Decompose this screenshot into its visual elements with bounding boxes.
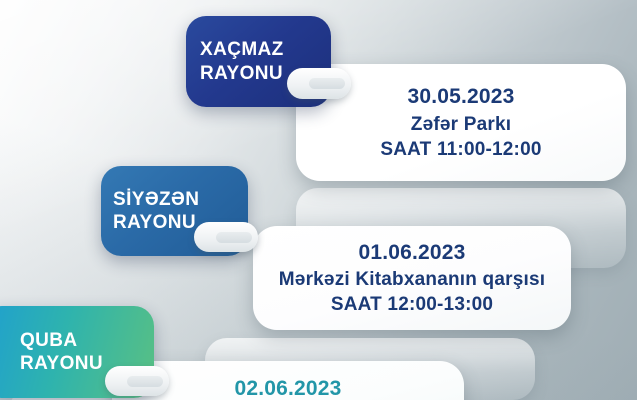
event-card-2: 01.06.2023 Mərkəzi Kitabxananın qarşısı … [253, 226, 571, 330]
event-time-2: SAAT 12:00-13:00 [331, 292, 493, 317]
event-place-2: Mərkəzi Kitabxananın qarşısı [279, 267, 545, 292]
region-badge-siyezen: SİYƏZƏN RAYONU [101, 166, 248, 256]
event-card-1: 30.05.2023 Zəfər Parkı SAAT 11:00-12:00 [296, 64, 626, 181]
region-badge-xacmaz: XAÇMAZ RAYONU [186, 16, 331, 107]
region-badge-quba: QUBA RAYONU [0, 306, 154, 398]
event-place-1: Zəfər Parkı [411, 112, 511, 137]
event-date-2: 01.06.2023 [358, 239, 465, 267]
region-badge-quba-line1: QUBA [20, 329, 154, 352]
region-badge-xacmaz-line1: XAÇMAZ [200, 38, 331, 61]
event-time-1: SAAT 11:00-12:00 [380, 137, 541, 162]
region-badge-quba-line2: RAYONU [20, 352, 154, 375]
event-card-3: 02.06.2023 [112, 361, 464, 400]
event-date-3: 02.06.2023 [234, 375, 341, 400]
region-badge-xacmaz-line2: RAYONU [200, 62, 331, 85]
region-badge-siyezen-line2: RAYONU [113, 211, 248, 234]
region-badge-siyezen-line1: SİYƏZƏN [113, 188, 248, 211]
event-date-1: 30.05.2023 [407, 83, 514, 111]
infographic-poster: 30.05.2023 Zəfər Parkı SAAT 11:00-12:00 … [0, 0, 637, 400]
